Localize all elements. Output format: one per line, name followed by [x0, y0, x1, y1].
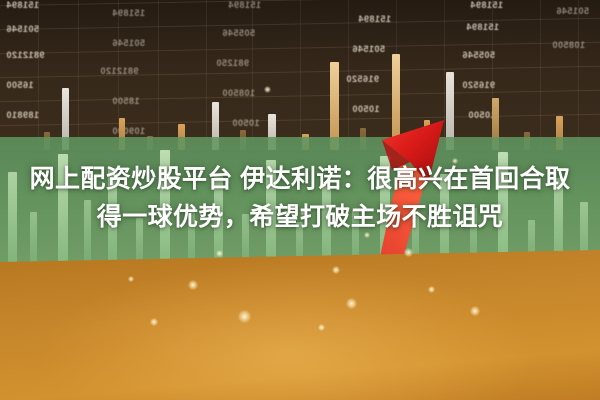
sparkle — [188, 280, 198, 290]
sparkle — [346, 298, 357, 309]
headline-line-2: 得一球优势，希望打破主场不胜诅咒 — [0, 198, 600, 236]
sparkle — [238, 310, 251, 323]
sparkle — [470, 306, 480, 316]
banner-image: 151894 501546 9812120 16500 189810 15189… — [0, 0, 600, 400]
sparkle — [428, 286, 435, 293]
sparkle — [264, 86, 271, 93]
sparkle — [216, 250, 223, 257]
sparkle — [318, 324, 325, 331]
headline: 网上配资炒股平台 伊达利诺：很高兴在首回合取 得一球优势，希望打破主场不胜诅咒 — [0, 160, 600, 236]
headline-line-1: 网上配资炒股平台 伊达利诺：很高兴在首回合取 — [0, 160, 600, 198]
floor-glow — [0, 250, 600, 400]
sparkle — [128, 276, 134, 282]
sparkle — [150, 318, 158, 326]
sparkle — [404, 248, 413, 257]
sparkle — [332, 266, 340, 274]
